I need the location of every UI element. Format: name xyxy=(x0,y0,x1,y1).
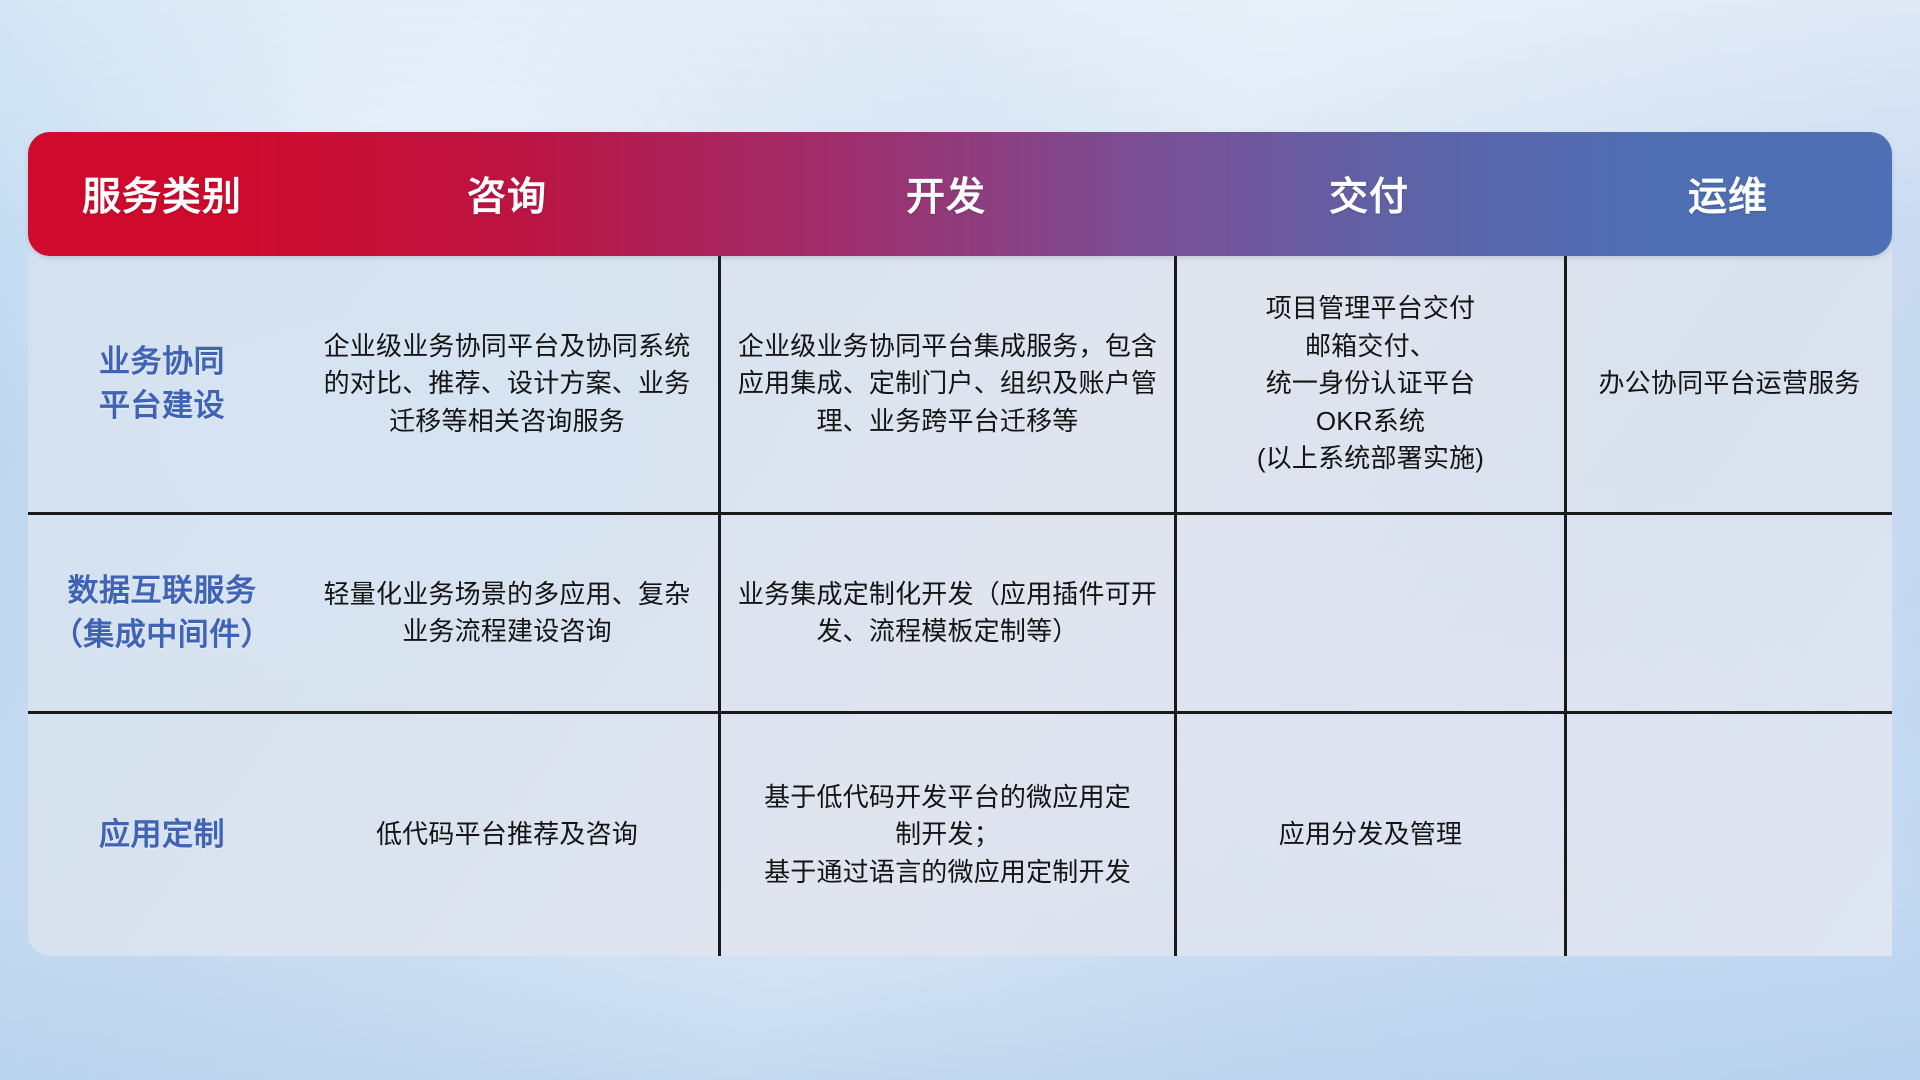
column-header-operations: 运维 xyxy=(1564,166,1892,222)
column-header-delivery: 交付 xyxy=(1174,166,1564,222)
slide-canvas: 服务类别 咨询 开发 交付 运维 业务协同 平台建设 企业级业务协同平台及协同系… xyxy=(0,0,1920,1080)
table-header-row: 服务类别 咨询 开发 交付 运维 xyxy=(28,132,1892,256)
table-row: 业务协同 平台建设 企业级业务协同平台及协同系统的对比、推荐、设计方案、业务迁移… xyxy=(28,242,1892,512)
column-header-development: 开发 xyxy=(718,166,1174,222)
cell-text: 企业级业务协同平台及协同系统的对比、推荐、设计方案、业务迁移等相关咨询服务 xyxy=(312,328,702,440)
cell-delivery: 项目管理平台交付 邮箱交付、 统一身份认证平台 OKR系统 (以上系统部署实施) xyxy=(1174,256,1564,512)
cell-development: 基于低代码开发平台的微应用定 制开发； 基于通过语言的微应用定制开发 xyxy=(718,714,1174,956)
cell-category: 数据互联服务 （集成中间件） xyxy=(28,515,296,711)
category-label-line: （集成中间件） xyxy=(52,613,273,657)
cell-development: 业务集成定制化开发（应用插件可开发、流程模板定制等） xyxy=(718,515,1174,711)
cell-text: 低代码平台推荐及咨询 xyxy=(376,816,638,853)
cell-delivery: 应用分发及管理 xyxy=(1174,714,1564,956)
cell-consulting: 低代码平台推荐及咨询 xyxy=(296,714,718,956)
cell-delivery xyxy=(1174,515,1564,711)
column-header-category: 服务类别 xyxy=(28,166,296,222)
cell-text: 办公协同平台运营服务 xyxy=(1598,365,1860,402)
cell-text: 项目管理平台交付 邮箱交付、 统一身份认证平台 OKR系统 (以上系统部署实施) xyxy=(1257,290,1484,477)
cell-operations: 办公协同平台运营服务 xyxy=(1564,256,1892,512)
category-label-line: 数据互联服务 xyxy=(52,569,273,613)
cell-consulting: 企业级业务协同平台及协同系统的对比、推荐、设计方案、业务迁移等相关咨询服务 xyxy=(296,256,718,512)
cell-operations xyxy=(1564,515,1892,711)
cell-text-line: 基于低代码开发平台的微应用定 xyxy=(764,779,1131,816)
cell-operations xyxy=(1564,714,1892,956)
category-label-line: 应用定制 xyxy=(99,813,225,857)
table-body: 业务协同 平台建设 企业级业务协同平台及协同系统的对比、推荐、设计方案、业务迁移… xyxy=(28,242,1892,956)
service-category-table: 服务类别 咨询 开发 交付 运维 业务协同 平台建设 企业级业务协同平台及协同系… xyxy=(28,132,1892,956)
cell-text-line: (以上系统部署实施) xyxy=(1257,440,1484,477)
cell-text-line: OKR系统 xyxy=(1257,403,1484,440)
category-label: 业务协同 平台建设 xyxy=(99,340,225,428)
cell-text-line: 项目管理平台交付 xyxy=(1257,290,1484,327)
cell-category: 业务协同 平台建设 xyxy=(28,256,296,512)
cell-text: 业务集成定制化开发（应用插件可开发、流程模板定制等） xyxy=(737,576,1158,651)
cell-text: 应用分发及管理 xyxy=(1279,816,1462,853)
cell-text: 企业级业务协同平台集成服务，包含应用集成、定制门户、组织及账户管理、业务跨平台迁… xyxy=(737,328,1158,440)
category-label-line: 平台建设 xyxy=(99,384,225,428)
cell-text-line: 邮箱交付、 xyxy=(1257,328,1484,365)
column-header-consulting: 咨询 xyxy=(296,166,718,222)
cell-text: 轻量化业务场景的多应用、复杂业务流程建设咨询 xyxy=(312,576,702,651)
cell-development: 企业级业务协同平台集成服务，包含应用集成、定制门户、组织及账户管理、业务跨平台迁… xyxy=(718,256,1174,512)
category-label-line: 业务协同 xyxy=(99,340,225,384)
table-row: 数据互联服务 （集成中间件） 轻量化业务场景的多应用、复杂业务流程建设咨询 业务… xyxy=(28,512,1892,711)
cell-text-line: 基于通过语言的微应用定制开发 xyxy=(764,854,1131,891)
cell-text: 基于低代码开发平台的微应用定 制开发； 基于通过语言的微应用定制开发 xyxy=(764,779,1131,891)
category-label: 数据互联服务 （集成中间件） xyxy=(52,569,273,657)
cell-text-line: 制开发； xyxy=(764,816,1131,853)
table-row: 应用定制 低代码平台推荐及咨询 基于低代码开发平台的微应用定 制开发； 基于通过… xyxy=(28,711,1892,956)
cell-consulting: 轻量化业务场景的多应用、复杂业务流程建设咨询 xyxy=(296,515,718,711)
cell-text-line: 统一身份认证平台 xyxy=(1257,365,1484,402)
cell-category: 应用定制 xyxy=(28,714,296,956)
category-label: 应用定制 xyxy=(99,813,225,857)
